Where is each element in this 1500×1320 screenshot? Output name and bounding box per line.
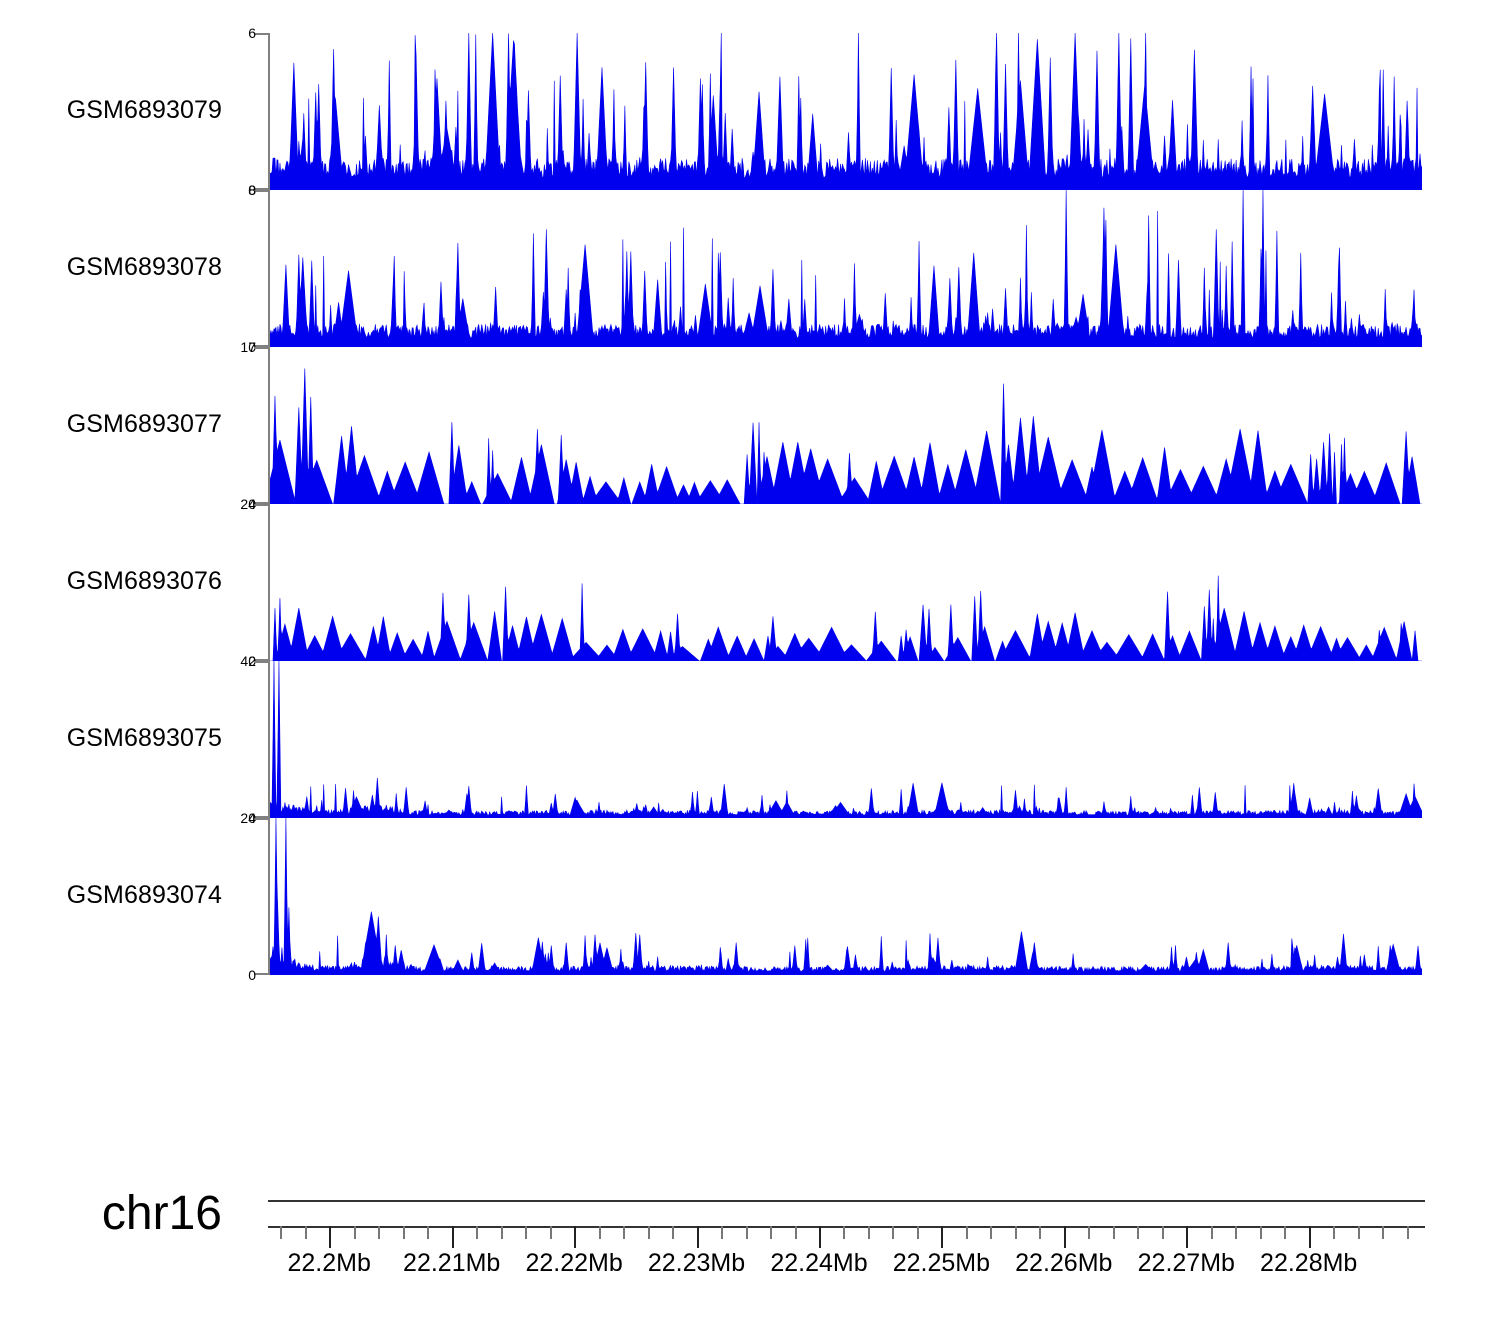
coverage-track: GSM6893077170 — [0, 347, 1500, 504]
coverage-track: GSM6893076240 — [0, 504, 1500, 661]
coverage-track: GSM689307880 — [0, 190, 1500, 347]
track-sample-label: GSM6893077 — [0, 412, 222, 437]
axis-minor-tick — [892, 1226, 894, 1239]
y-axis-tick-min — [254, 973, 270, 975]
coverage-area-plot — [270, 504, 1422, 661]
axis-major-tick — [1309, 1226, 1311, 1248]
track-y-axis — [262, 33, 270, 190]
axis-tick-labels: 22.2Mb22.21Mb22.22Mb22.23Mb22.24Mb22.25M… — [0, 1249, 1500, 1283]
axis-tick-label: 22.2Mb — [287, 1249, 370, 1277]
axis-minor-tick — [843, 1226, 845, 1239]
coverage-svg — [270, 504, 1422, 661]
coverage-path — [270, 33, 1422, 190]
coverage-path — [270, 661, 1422, 818]
axis-minor-tick — [1382, 1226, 1384, 1239]
axis-minor-tick — [1015, 1226, 1017, 1239]
axis-major-tick — [452, 1226, 454, 1248]
coverage-path — [270, 190, 1422, 347]
axis-minor-tick — [1113, 1226, 1115, 1239]
axis-minor-tick — [1260, 1226, 1262, 1239]
axis-minor-tick — [501, 1226, 503, 1239]
axis-minor-tick — [378, 1226, 380, 1239]
coverage-path — [270, 576, 1422, 661]
track-sample-label: GSM6893075 — [0, 726, 222, 751]
axis-minor-tick — [354, 1226, 356, 1239]
coverage-track: GSM6893075420 — [0, 661, 1500, 818]
axis-tick-label: 22.27Mb — [1138, 1249, 1235, 1277]
axis-minor-tick — [1407, 1226, 1409, 1239]
axis-minor-tick — [525, 1226, 527, 1239]
axis-minor-tick — [795, 1226, 797, 1239]
axis-minor-tick — [403, 1226, 405, 1239]
coverage-area-plot — [270, 190, 1422, 347]
coverage-track: GSM6893074240 — [0, 818, 1500, 975]
y-axis-max-label: 17 — [56, 340, 256, 354]
axis-tick-label: 22.23Mb — [648, 1249, 745, 1277]
axis-minor-tick — [1137, 1226, 1139, 1239]
axis-minor-tick — [1235, 1226, 1237, 1239]
axis-minor-tick — [1358, 1226, 1360, 1239]
axis-minor-tick — [476, 1226, 478, 1239]
axis-minor-tick — [1162, 1226, 1164, 1239]
coverage-area-plot — [270, 818, 1422, 975]
coverage-path — [270, 369, 1422, 504]
axis-minor-tick — [868, 1226, 870, 1239]
track-sample-label: GSM6893078 — [0, 255, 222, 280]
axis-minor-tick — [672, 1226, 674, 1239]
track-sample-label: GSM6893079 — [0, 98, 222, 123]
coverage-svg — [270, 661, 1422, 818]
axis-tick-label: 22.26Mb — [1015, 1249, 1112, 1277]
axis-tick-label: 22.21Mb — [403, 1249, 500, 1277]
axis-minor-tick — [623, 1226, 625, 1239]
axis-minor-tick — [770, 1226, 772, 1239]
axis-major-tick — [1064, 1226, 1066, 1248]
track-y-axis — [262, 661, 270, 818]
axis-major-tick — [819, 1226, 821, 1248]
coverage-track-stack: GSM689307960GSM689307880GSM6893077170GSM… — [0, 33, 1500, 975]
axis-minor-tick — [1039, 1226, 1041, 1239]
y-axis-max-label: 42 — [56, 654, 256, 668]
axis-minor-tick — [966, 1226, 968, 1239]
coverage-svg — [270, 190, 1422, 347]
coverage-area-plot — [270, 33, 1422, 190]
axis-tick-label: 22.28Mb — [1260, 1249, 1357, 1277]
axis-tick-marks — [0, 1226, 1500, 1250]
axis-major-tick — [1186, 1226, 1188, 1248]
y-axis-tick-max — [254, 504, 270, 506]
coverage-track: GSM689307960 — [0, 33, 1500, 190]
y-axis-max-label: 24 — [56, 497, 256, 511]
axis-minor-tick — [427, 1226, 429, 1239]
axis-major-tick — [329, 1226, 331, 1248]
coverage-svg — [270, 33, 1422, 190]
y-axis-max-label: 8 — [56, 183, 256, 197]
track-sample-label: GSM6893076 — [0, 569, 222, 594]
coverage-path — [270, 818, 1422, 975]
axis-tick-label: 22.25Mb — [893, 1249, 990, 1277]
axis-minor-tick — [746, 1226, 748, 1239]
track-y-axis — [262, 504, 270, 661]
y-axis-tick-max — [254, 661, 270, 663]
axis-minor-tick — [1088, 1226, 1090, 1239]
y-axis-tick-max — [254, 347, 270, 349]
track-y-axis — [262, 818, 270, 975]
coverage-svg — [270, 818, 1422, 975]
y-axis-tick-max — [254, 33, 270, 35]
axis-minor-tick — [550, 1226, 552, 1239]
figure-root: GSM689307960GSM689307880GSM6893077170GSM… — [0, 0, 1500, 1320]
coverage-svg — [270, 347, 1422, 504]
track-y-axis — [262, 347, 270, 504]
track-y-axis — [262, 190, 270, 347]
axis-tick-label: 22.24Mb — [770, 1249, 867, 1277]
axis-minor-tick — [305, 1226, 307, 1239]
y-axis-max-label: 24 — [56, 811, 256, 825]
axis-minor-tick — [648, 1226, 650, 1239]
axis-tick-label: 22.22Mb — [525, 1249, 622, 1277]
genome-axis: chr16 22.2Mb22.21Mb22.22Mb22.23Mb22.24Mb… — [0, 1186, 1500, 1306]
y-axis-min-label: 0 — [56, 968, 256, 982]
axis-minor-tick — [280, 1226, 282, 1239]
track-sample-label: GSM6893074 — [0, 883, 222, 908]
axis-minor-tick — [1333, 1226, 1335, 1239]
axis-major-tick — [941, 1226, 943, 1248]
coverage-area-plot — [270, 661, 1422, 818]
axis-minor-tick — [990, 1226, 992, 1239]
axis-top-rule — [268, 1200, 1425, 1202]
axis-minor-tick — [1284, 1226, 1286, 1239]
y-axis-tick-max — [254, 190, 270, 192]
axis-minor-tick — [917, 1226, 919, 1239]
y-axis-max-label: 6 — [56, 26, 256, 40]
axis-major-tick — [697, 1226, 699, 1248]
axis-minor-tick — [599, 1226, 601, 1239]
axis-minor-tick — [1211, 1226, 1213, 1239]
coverage-area-plot — [270, 347, 1422, 504]
axis-major-tick — [574, 1226, 576, 1248]
axis-minor-tick — [721, 1226, 723, 1239]
y-axis-tick-max — [254, 818, 270, 820]
